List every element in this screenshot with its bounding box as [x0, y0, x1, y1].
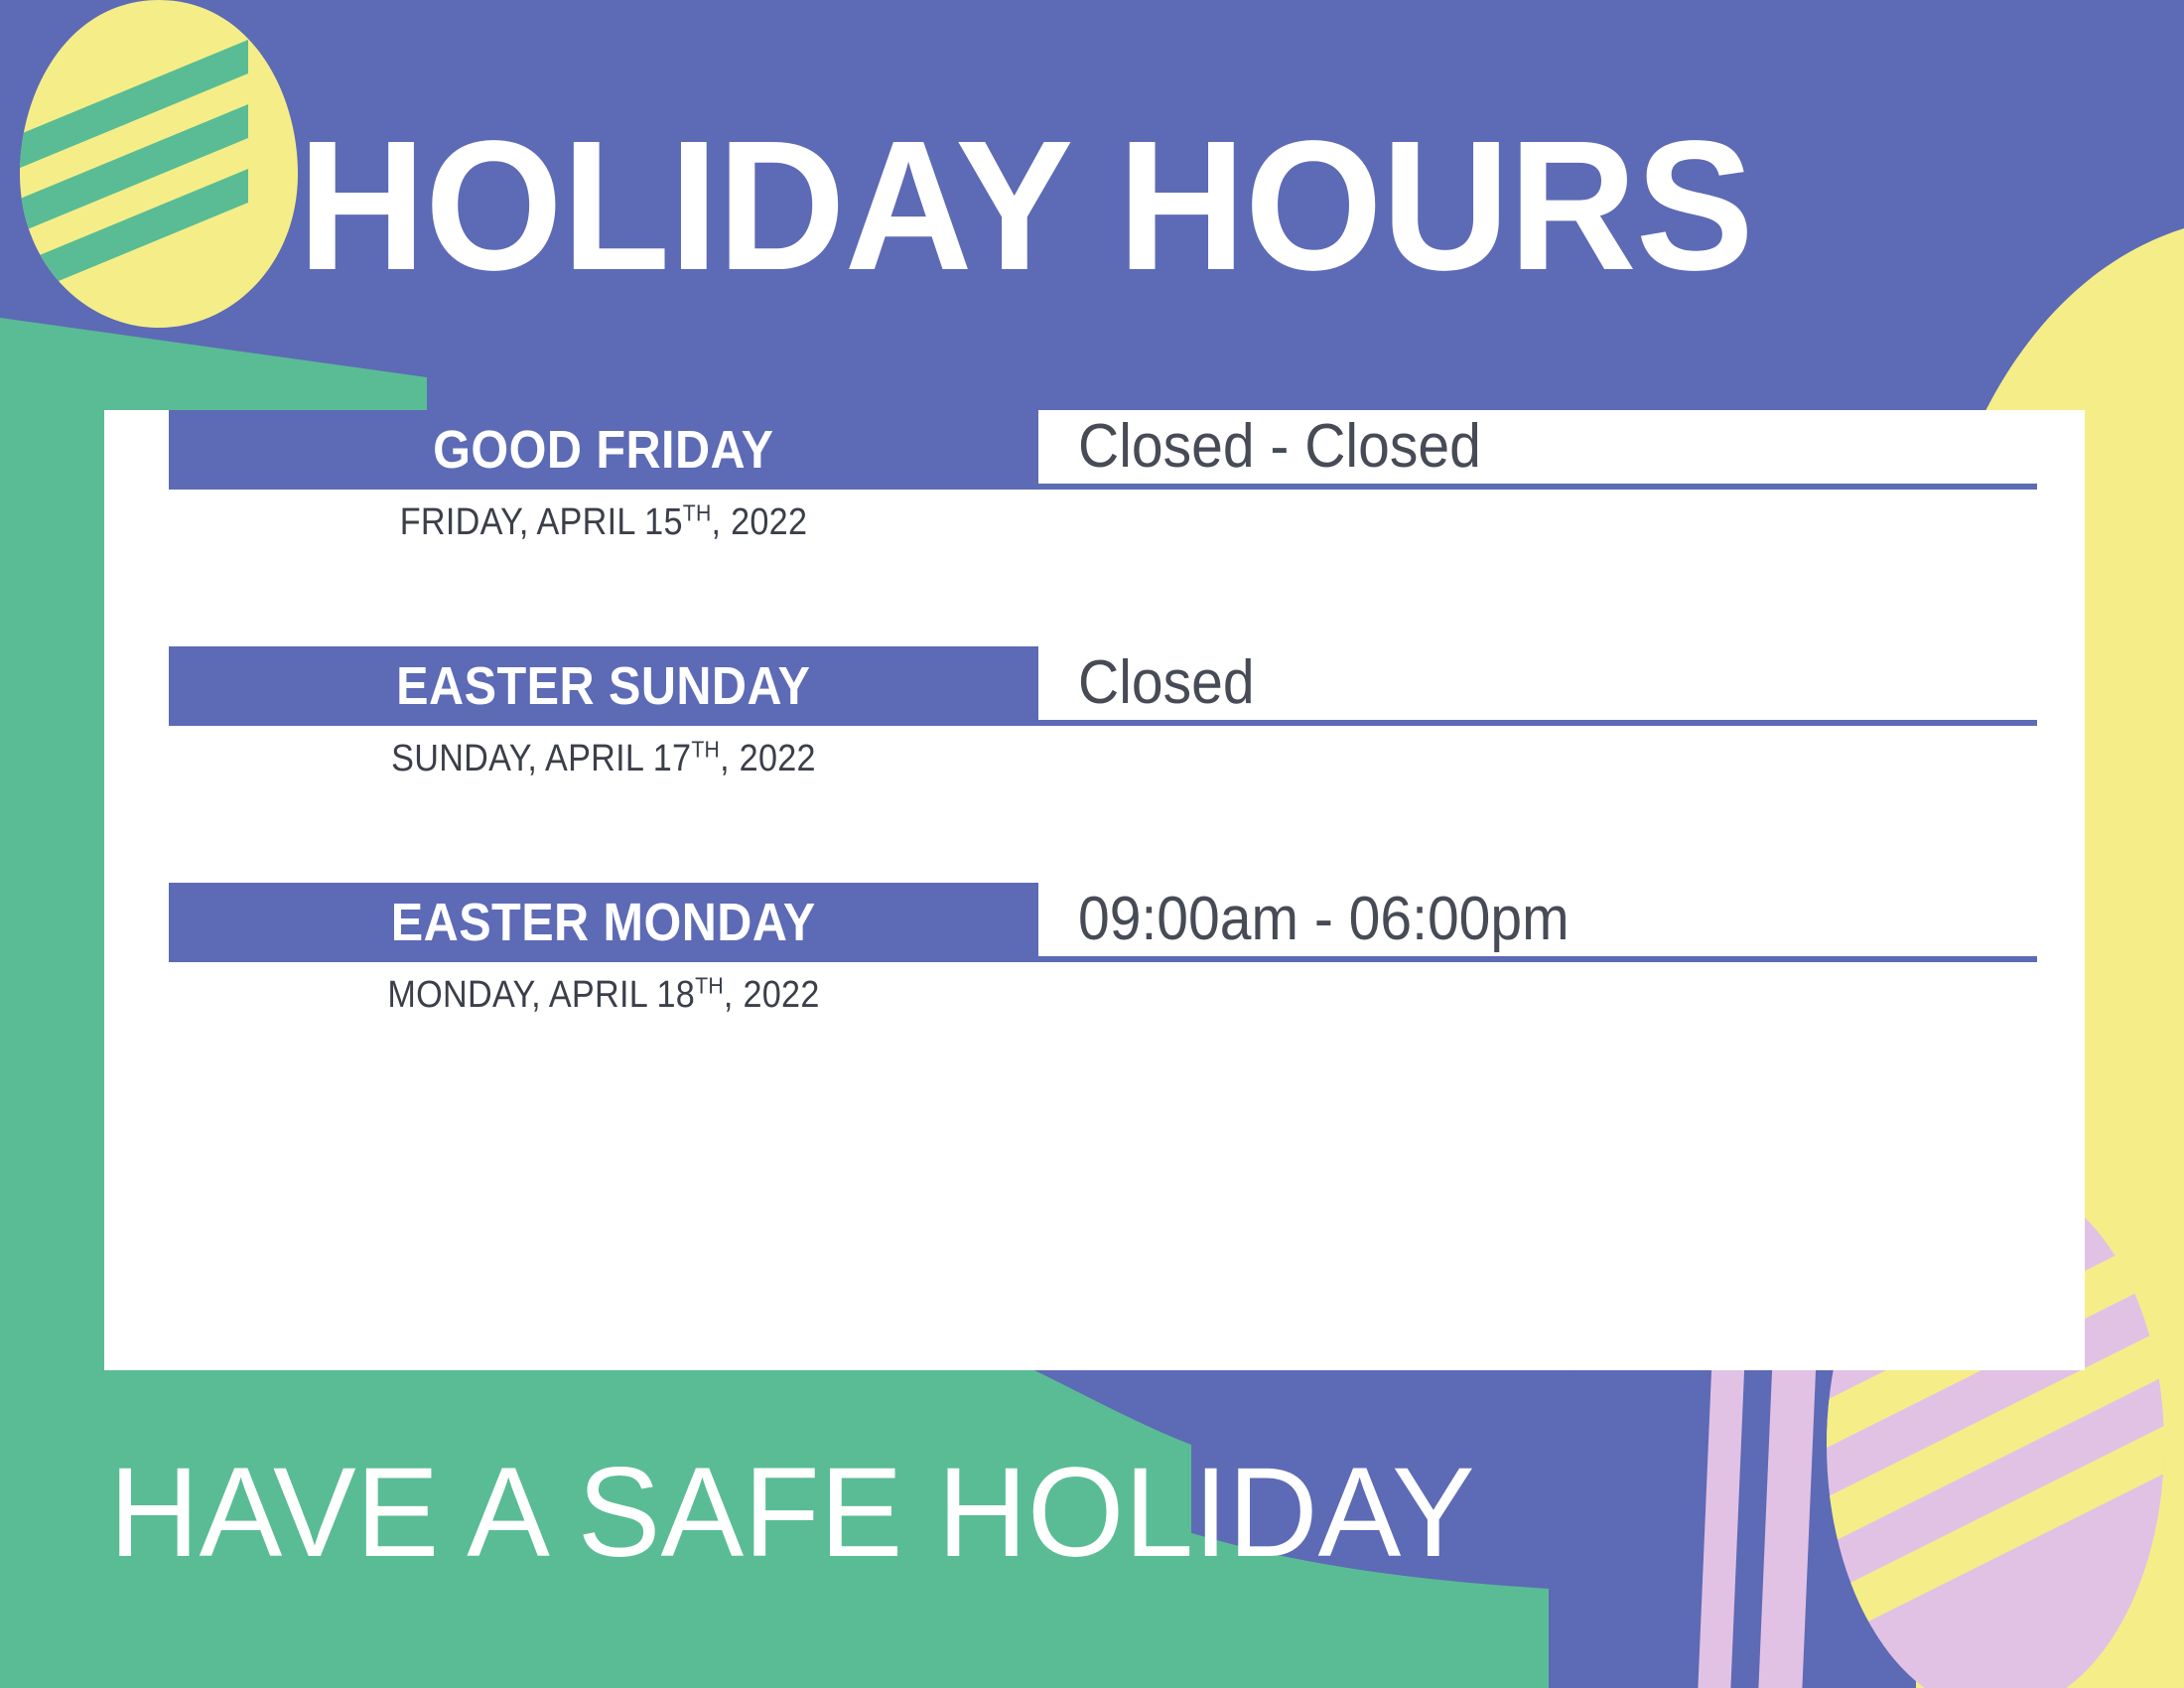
holiday-name-bar: GOOD FRIDAY [169, 410, 1038, 490]
holiday-name-label: GOOD FRIDAY [433, 423, 773, 477]
date-ordinal: TH [691, 736, 720, 762]
date-suffix: , 2022 [712, 501, 808, 543]
date-prefix: SUNDAY, APRIL 17 [391, 738, 691, 779]
holiday-hours-cell: Closed [1038, 646, 2037, 726]
footer-message: HAVE A SAFE HOLIDAY [109, 1450, 1475, 1577]
holiday-date-label: MONDAY, APRIL 18TH, 2022 [212, 976, 995, 1014]
holiday-name-bar: EASTER SUNDAY [169, 646, 1038, 726]
date-suffix: , 2022 [720, 738, 816, 779]
schedule-row-main: EASTER SUNDAY Closed [0, 646, 2184, 726]
holiday-hours-cell: Closed - Closed [1038, 410, 2037, 490]
schedule-row-main: EASTER MONDAY 09:00am - 06:00pm [0, 883, 2184, 962]
page-title: HOLIDAY HOURS [298, 117, 1918, 296]
holiday-name-label: EASTER MONDAY [391, 896, 816, 949]
date-prefix: MONDAY, APRIL 18 [387, 974, 695, 1016]
date-ordinal: TH [695, 972, 724, 998]
holiday-hours-cell: 09:00am - 06:00pm [1038, 883, 2037, 962]
date-prefix: FRIDAY, APRIL 15 [400, 501, 683, 543]
holiday-date-label: FRIDAY, APRIL 15TH, 2022 [212, 503, 995, 541]
holiday-name-bar: EASTER MONDAY [169, 883, 1038, 962]
schedule-row-main: GOOD FRIDAY Closed - Closed [0, 410, 2184, 490]
holiday-date-label: SUNDAY, APRIL 17TH, 2022 [212, 740, 995, 777]
holiday-hours-value: Closed - Closed [1078, 416, 1481, 478]
holiday-name-label: EASTER SUNDAY [396, 659, 810, 713]
holiday-hours-value: Closed [1078, 652, 1255, 714]
holiday-hours-poster: HOLIDAY HOURS GOOD FRIDAY Closed - Close… [0, 0, 2184, 1688]
date-ordinal: TH [683, 499, 712, 525]
date-suffix: , 2022 [724, 974, 820, 1016]
holiday-hours-value: 09:00am - 06:00pm [1078, 889, 1570, 950]
